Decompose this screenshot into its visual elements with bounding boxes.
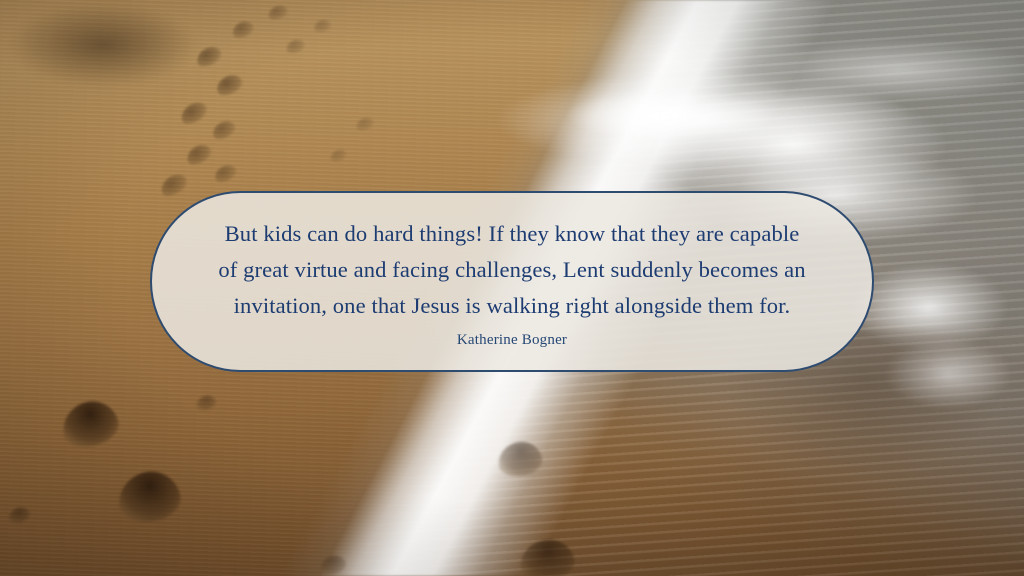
quote-line-2: of great virtue and facing challenges, L…: [218, 252, 805, 288]
quote-author: Katherine Bogner: [457, 331, 567, 349]
quote-line-1: But kids can do hard things! If they kno…: [218, 216, 805, 252]
quote-card: But kids can do hard things! If they kno…: [150, 191, 874, 372]
quote-text: But kids can do hard things! If they kno…: [218, 216, 805, 324]
quote-line-3: invitation, one that Jesus is walking ri…: [218, 288, 805, 324]
quote-image: But kids can do hard things! If they kno…: [0, 0, 1024, 576]
